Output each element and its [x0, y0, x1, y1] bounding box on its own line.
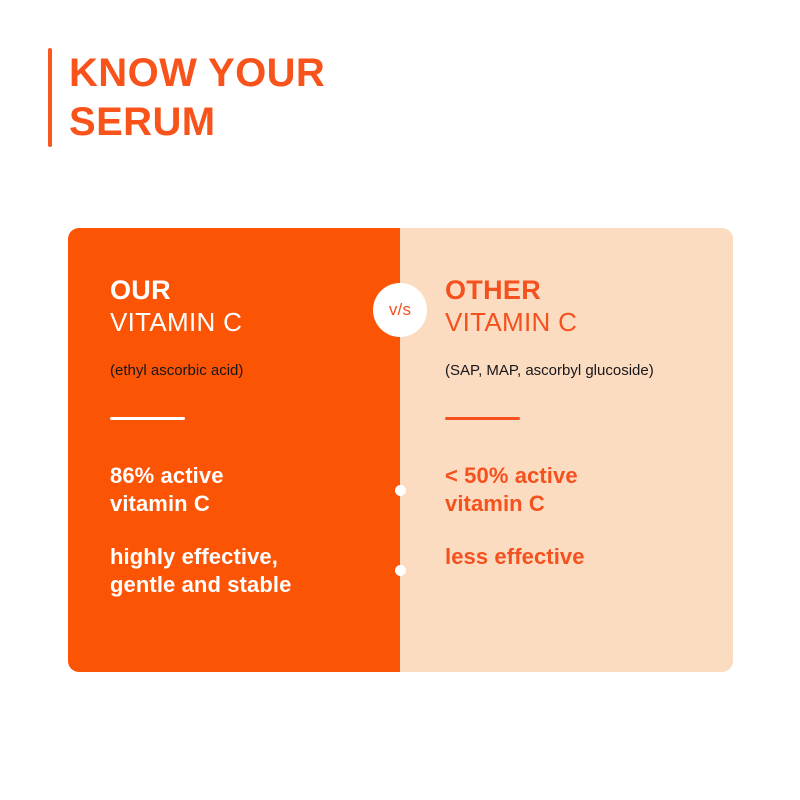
divider-dot-row-2 — [395, 565, 406, 576]
panel-other-bullet-list: < 50% active vitamin C less effective — [445, 462, 709, 571]
panel-other-subtitle: VITAMIN C — [445, 306, 709, 339]
versus-badge: v/s — [373, 283, 427, 337]
panel-our-ingredient: (ethyl ascorbic acid) — [110, 361, 376, 381]
panel-other-ingredient: (SAP, MAP, ascorbyl glucoside) — [445, 361, 709, 381]
panel-other: OTHER VITAMIN C (SAP, MAP, ascorbyl gluc… — [400, 228, 733, 672]
list-item: 86% active vitamin C — [110, 462, 376, 518]
panel-our-kicker: OUR — [110, 274, 376, 306]
panel-our-bullet-list: 86% active vitamin C highly effective, g… — [110, 462, 376, 599]
page-title-text: KNOW YOUR SERUM — [69, 48, 325, 147]
title-accent-bar — [48, 48, 52, 147]
list-item: highly effective, gentle and stable — [110, 543, 376, 599]
divider-dot-row-1 — [395, 485, 406, 496]
list-item: less effective — [445, 543, 709, 571]
list-item: < 50% active vitamin C — [445, 462, 709, 518]
panel-our: OUR VITAMIN C (ethyl ascorbic acid) 86% … — [68, 228, 400, 672]
panel-other-kicker: OTHER — [445, 274, 709, 306]
panel-our-subtitle: VITAMIN C — [110, 306, 376, 339]
page-title: KNOW YOUR SERUM — [48, 48, 325, 147]
panel-other-divider-rule — [445, 417, 520, 420]
poster-canvas: KNOW YOUR SERUM OUR VITAMIN C (ethyl asc… — [0, 0, 800, 800]
panel-our-divider-rule — [110, 417, 185, 420]
